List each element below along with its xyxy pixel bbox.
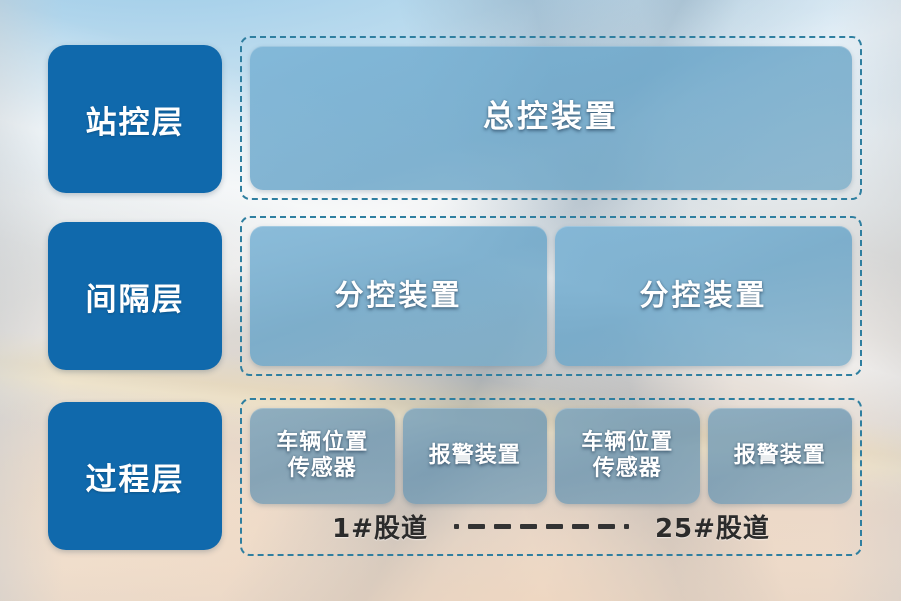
layer-label-text: 间隔层 [86,274,185,319]
node-label: 车辆位置 传感器 [581,430,673,481]
layer-label-bay-level: 间隔层 [48,222,222,370]
group-bay-level: 分控装置 分控装置 [240,216,862,376]
layer-label-process-level: 过程层 [48,402,222,550]
group-station-control-inner: 总控装置 [250,46,852,190]
node-label: 分控装置 [639,279,767,313]
node-label-line1: 车辆位置 [581,430,673,455]
group-bay-level-inner: 分控装置 分控装置 [250,226,852,366]
node-label: 报警装置 [734,443,826,469]
node-sub-control-device-2[interactable]: 分控装置 [555,226,852,366]
diagram-canvas: 站控层 间隔层 过程层 总控装置 分控装置 分控装置 [0,0,901,601]
node-label-line2: 传感器 [288,456,357,481]
group-process-level-inner: 车辆位置 传感器 报警装置 车辆位置 传感器 报警装置 [250,408,852,546]
node-sub-control-device-1[interactable]: 分控装置 [250,226,547,366]
node-alarm-device-1[interactable]: 报警装置 [403,408,548,504]
layer-label-text: 过程层 [86,454,185,499]
group-station-control: 总控装置 [240,36,862,200]
node-main-control-device[interactable]: 总控装置 [250,46,852,190]
layer-label-station-control: 站控层 [48,45,222,193]
node-alarm-device-2[interactable]: 报警装置 [708,408,853,504]
track-label-first: 1#股道 [332,508,428,545]
node-label: 车辆位置 传感器 [276,430,368,481]
track-label-last: 25#股道 [655,508,770,545]
process-level-node-row: 车辆位置 传感器 报警装置 车辆位置 传感器 报警装置 [250,408,852,504]
node-vehicle-position-sensor-1[interactable]: 车辆位置 传感器 [250,408,395,504]
node-label: 分控装置 [334,279,462,313]
track-label-strip: 1#股道 25#股道 [250,506,852,546]
node-label: 报警装置 [429,443,521,469]
node-label-line2: 传感器 [593,456,662,481]
layer-label-text: 站控层 [86,97,185,142]
node-label-line1: 车辆位置 [276,430,368,455]
group-process-level: 车辆位置 传感器 报警装置 车辆位置 传感器 报警装置 [240,398,862,556]
node-label: 总控装置 [483,100,619,136]
node-vehicle-position-sensor-2[interactable]: 车辆位置 传感器 [555,408,700,504]
track-ellipsis-icon [454,513,629,539]
